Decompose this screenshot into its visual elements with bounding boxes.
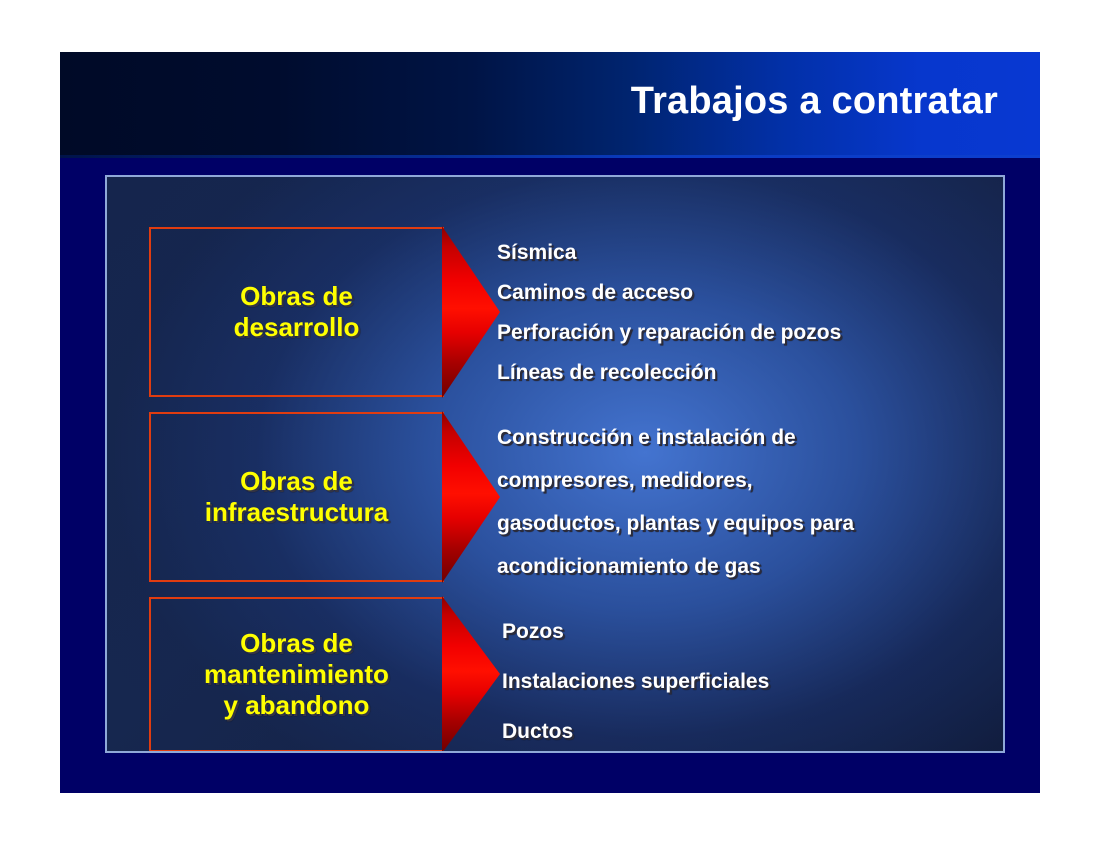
list-item: Caminos de acceso — [497, 273, 997, 313]
arrow-box-label: Obras de desarrollo — [228, 281, 366, 343]
list-item: Líneas de recolección — [497, 353, 997, 393]
arrow-head-icon — [442, 411, 500, 583]
arrow-box-obras-de-mantenimiento-y-abandono[interactable]: Obras de mantenimiento y abandono — [149, 597, 444, 752]
arrow-box-obras-de-infraestructura[interactable]: Obras de infraestructura — [149, 412, 444, 582]
items-column: Construcción e instalación de compresore… — [497, 416, 997, 588]
list-item: Ductos — [502, 707, 997, 753]
list-item: gasoductos, plantas y equipos para — [497, 502, 997, 545]
page-title: Trabajos a contratar — [631, 78, 998, 124]
list-item: Sísmica — [497, 233, 997, 273]
items-column: Pozos Instalaciones superficiales Ductos — [502, 607, 997, 753]
list-item: Instalaciones superficiales — [502, 657, 997, 707]
arrow-box-label: Obras de infraestructura — [199, 466, 395, 528]
slide-title-bar: Trabajos a contratar — [60, 52, 1040, 155]
items-column: Sísmica Caminos de acceso Perforación y … — [497, 233, 997, 393]
list-item: Pozos — [502, 607, 997, 657]
list-item: compresores, medidores, — [497, 459, 997, 502]
content-panel: Obras de desarrollo — [105, 175, 1005, 753]
title-underline — [60, 155, 1040, 158]
slide: Trabajos a contratar Obras de desarrollo — [60, 52, 1040, 793]
arrow-box-obras-de-desarrollo[interactable]: Obras de desarrollo — [149, 227, 444, 397]
list-item: acondicionamiento de gas — [497, 545, 997, 588]
arrow-head-icon — [442, 596, 500, 753]
list-item: Perforación y reparación de pozos — [497, 313, 997, 353]
arrow-head-icon — [442, 226, 500, 398]
arrow-box-label: Obras de mantenimiento y abandono — [198, 628, 395, 721]
list-item: Construcción e instalación de — [497, 416, 997, 459]
